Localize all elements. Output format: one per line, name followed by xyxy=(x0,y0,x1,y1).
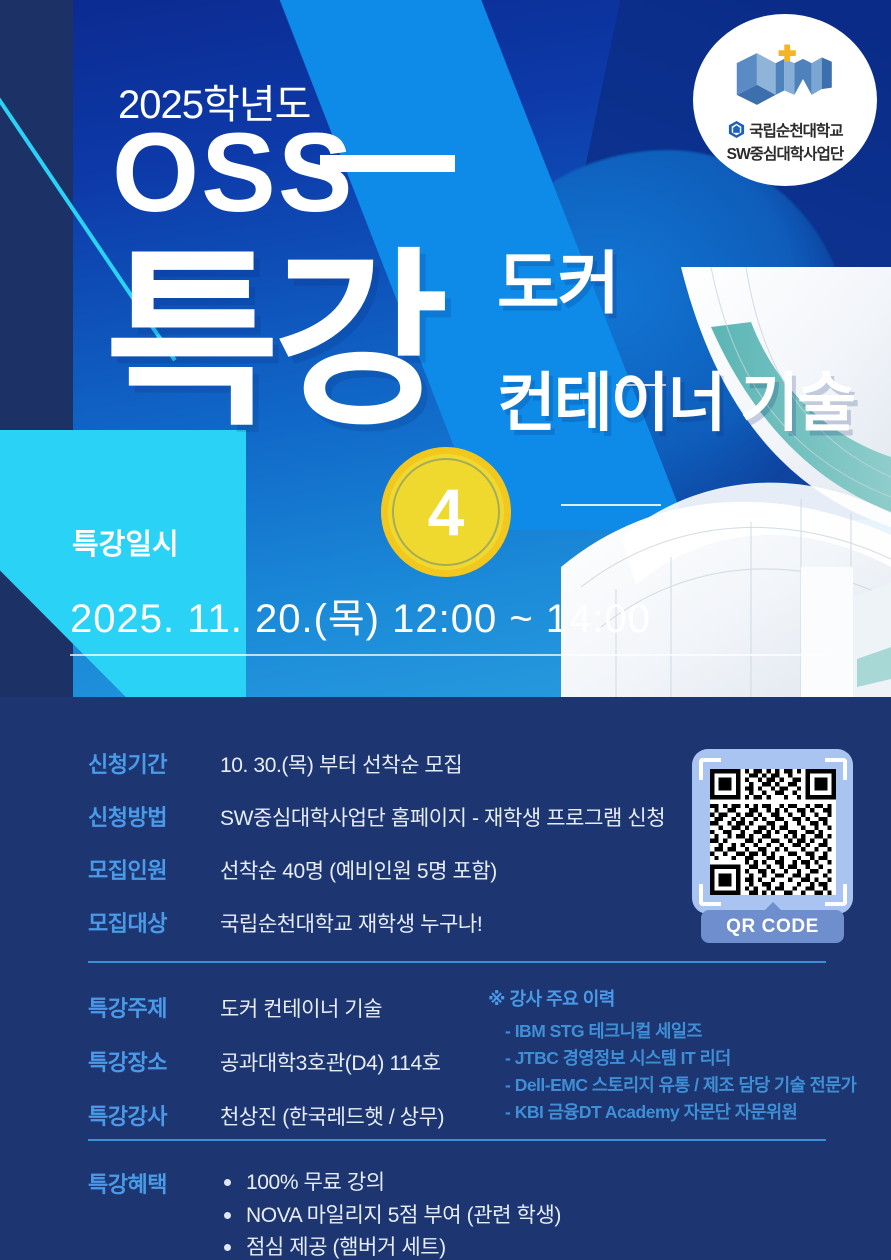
table-row: 특강강사 천상진 (한국레드햇 / 상무) xyxy=(88,1099,488,1131)
frame-corner-tr-icon xyxy=(825,758,847,780)
list-item: - KBI 금융DT Academy 자문단 자문위원 xyxy=(505,1099,883,1126)
list-item: 점심 제공 (햄버거 세트) xyxy=(220,1232,561,1260)
qr-code-label: QR CODE xyxy=(701,910,844,943)
date-value: 2025. 11. 20.(목) 12:00 ~ 14:00 xyxy=(70,586,651,644)
list-item: - Dell-EMC 스토리지 유통 / 제조 담당 기술 전문가 xyxy=(505,1072,883,1099)
table-row: 모집인원 선착순 40명 (예비인원 5명 포함) xyxy=(88,853,668,885)
row-value: 도커 컨테이너 기술 xyxy=(220,993,382,1023)
session-number: 4 xyxy=(428,479,465,545)
list-item: - JTBC 경영정보 시스템 IT 리더 xyxy=(505,1045,883,1072)
row-value: 국립순천대학교 재학생 누구나! xyxy=(220,908,482,938)
benefits-section: 특강혜택 100% 무료 강의 NOVA 마일리지 5점 부여 (관련 학생) … xyxy=(88,1167,561,1260)
frame-corner-br-icon xyxy=(825,884,847,906)
title-dash-rule xyxy=(320,155,455,172)
instructor-credentials: ※ 강사 주요 이력 - IBM STG 테크니컬 세일즈 - JTBC 경영정… xyxy=(488,985,883,1127)
row-value: 공과대학3호관(D4) 114호 xyxy=(220,1047,441,1077)
benefits-list: 100% 무료 강의 NOVA 마일리지 5점 부여 (관련 학생) 점심 제공… xyxy=(220,1167,561,1260)
row-label: 모집인원 xyxy=(88,853,220,885)
date-label: 특강일시 xyxy=(72,521,179,563)
row-label: 특강주제 xyxy=(88,991,220,1023)
list-item: - IBM STG 테크니컬 세일즈 xyxy=(505,1018,883,1045)
table-row: 특강주제 도커 컨테이너 기술 xyxy=(88,991,488,1023)
session-number-badge: 4 xyxy=(381,447,511,577)
poster-title: 특강 xyxy=(105,265,443,421)
info-section: 신청기간 10. 30.(목) 부터 선착순 모집 신청방법 SW중심대학사업단… xyxy=(0,697,891,1260)
university-logo: 국립순천대학교 SW중심대학사업단 xyxy=(693,14,877,186)
divider-lower xyxy=(88,1139,826,1141)
sw-logo-icon xyxy=(731,43,839,115)
lecture-detail-table: 특강주제 도커 컨테이너 기술 특강장소 공과대학3호관(D4) 114호 특강… xyxy=(88,991,488,1153)
divider-upper xyxy=(88,961,826,963)
benefits-label: 특강혜택 xyxy=(88,1167,220,1260)
row-label: 모집대상 xyxy=(88,906,220,938)
qr-code-icon xyxy=(710,769,836,895)
row-value: 선착순 40명 (예비인원 5명 포함) xyxy=(220,855,497,885)
table-row: 신청기간 10. 30.(목) 부터 선착순 모집 xyxy=(88,747,668,779)
program-acronym: OSS xyxy=(112,120,355,226)
list-item: 100% 무료 강의 xyxy=(220,1167,561,1200)
qr-code-label-text: QR CODE xyxy=(726,916,819,938)
frame-corner-bl-icon xyxy=(699,884,721,906)
hero-section: 2025학년도 OSS 특강 도커 컨테이너 기술 4 특강일시 2025. 1… xyxy=(0,0,891,697)
table-row: 신청방법 SW중심대학사업단 홈페이지 - 재학생 프로그램 신청 xyxy=(88,800,668,832)
list-item: NOVA 마일리지 5점 부여 (관련 학생) xyxy=(220,1200,561,1233)
hero-bottom-rule xyxy=(70,654,826,656)
row-label: 신청방법 xyxy=(88,800,220,832)
credentials-heading: ※ 강사 주요 이력 xyxy=(488,985,883,1011)
subject-line-2: 컨테이너 기술 xyxy=(497,352,854,444)
university-emblem-icon xyxy=(727,120,746,139)
application-info-table: 신청기간 10. 30.(목) 부터 선착순 모집 신청방법 SW중심대학사업단… xyxy=(88,747,668,938)
row-value: SW중심대학사업단 홈페이지 - 재학생 프로그램 신청 xyxy=(220,802,665,832)
row-value: 10. 30.(목) 부터 선착순 모집 xyxy=(220,749,462,779)
row-value: 천상진 (한국레드햇 / 상무) xyxy=(220,1101,444,1131)
frame-corner-tl-icon xyxy=(699,758,721,780)
row-label: 특강강사 xyxy=(88,1099,220,1131)
subject-line-1: 도커 xyxy=(497,228,618,327)
row-label: 특강장소 xyxy=(88,1045,220,1077)
qr-code-panel[interactable] xyxy=(692,749,853,914)
qr-scan-frame xyxy=(710,769,836,895)
logo-text-line-1: 국립순천대학교 xyxy=(749,119,843,141)
logo-text-line-2: SW중심대학사업단 xyxy=(727,142,844,164)
table-row: 모집대상 국립순천대학교 재학생 누구나! xyxy=(88,906,668,938)
poster-root: 2025학년도 OSS 특강 도커 컨테이너 기술 4 특강일시 2025. 1… xyxy=(0,0,891,1260)
table-row: 특강장소 공과대학3호관(D4) 114호 xyxy=(88,1045,488,1077)
row-label: 신청기간 xyxy=(88,747,220,779)
